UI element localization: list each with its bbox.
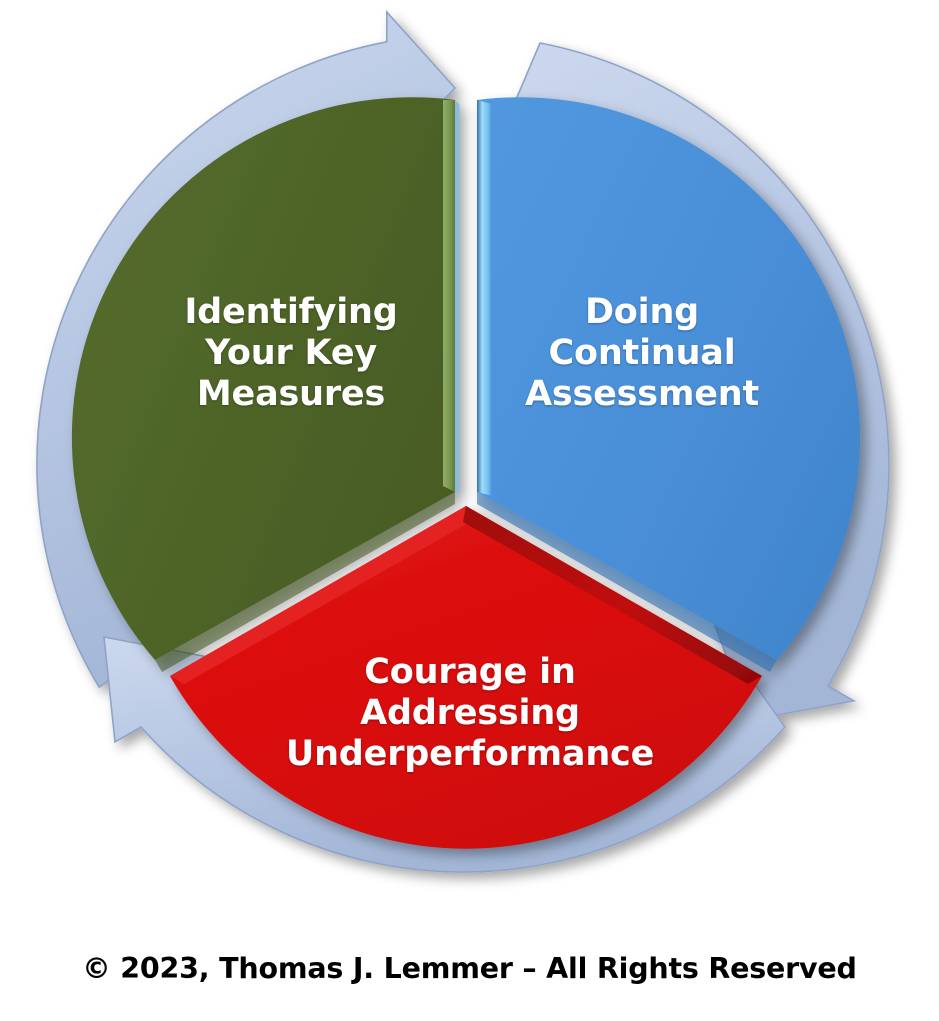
copyright-credit: © 2023, Thomas J. Lemmer – All Rights Re… [0,952,939,985]
cycle-diagram-svg [0,0,939,940]
cycle-diagram: Identifying Your Key Measures Doing Cont… [0,0,939,940]
